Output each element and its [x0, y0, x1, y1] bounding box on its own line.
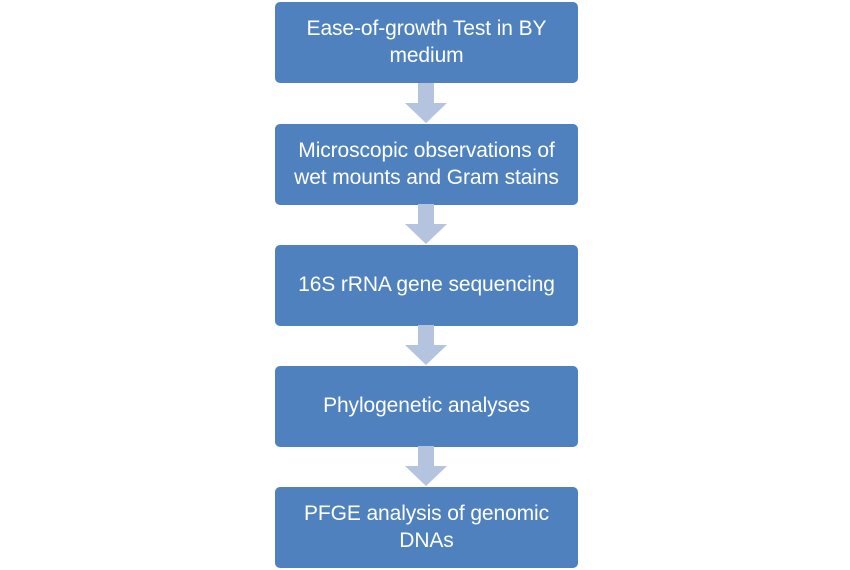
arrow-down-icon	[405, 83, 447, 123]
flow-connector-arrow-4	[405, 446, 447, 486]
flow-step-4: Phylogenetic analyses	[275, 366, 578, 447]
flow-step-5: PFGE analysis of genomic DNAs	[275, 487, 578, 568]
flow-connector-arrow-2	[405, 204, 447, 244]
arrow-down-icon	[405, 204, 447, 244]
flow-step-1: Ease-of-growth Test in BY medium	[275, 2, 578, 83]
flow-connector-arrow-3	[405, 325, 447, 365]
flow-step-5-label: PFGE analysis of genomic DNAs	[285, 501, 568, 555]
arrow-down-icon	[405, 446, 447, 486]
arrow-down-icon	[405, 325, 447, 365]
flow-step-1-label: Ease-of-growth Test in BY medium	[285, 16, 568, 70]
flowchart-diagram: Ease-of-growth Test in BY medium Microsc…	[0, 0, 850, 570]
flow-step-2: Microscopic observations of wet mounts a…	[275, 124, 578, 205]
flow-step-4-label: Phylogenetic analyses	[323, 393, 530, 420]
flow-step-3-label: 16S rRNA gene sequencing	[298, 272, 555, 299]
flow-step-3: 16S rRNA gene sequencing	[275, 245, 578, 326]
flow-connector-arrow-1	[405, 83, 447, 123]
flow-step-2-label: Microscopic observations of wet mounts a…	[285, 138, 568, 192]
